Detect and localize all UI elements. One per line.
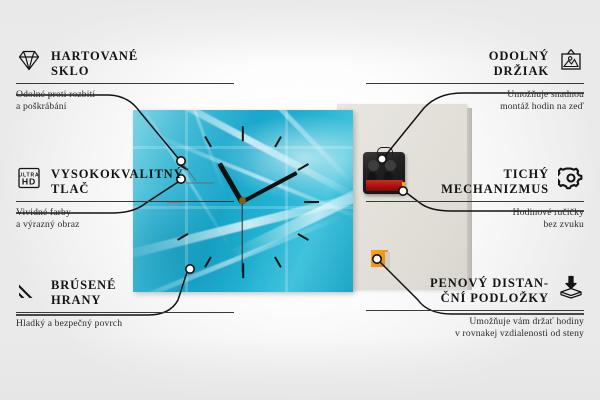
feature-title-text: HARTOVANÉ SKLO [51, 48, 138, 78]
feature-hartovane-sklo[interactable]: HARTOVANÉ SKLO Odolné proti rozbití a po… [16, 48, 234, 114]
divider [16, 312, 234, 313]
feature-title: HARTOVANÉ SKLO [16, 48, 234, 78]
feature-tichy-mechanizmus[interactable]: TICHÝ MECHANIZMUS Hodinové ručičky bez z… [366, 166, 584, 232]
hour-tick [304, 201, 319, 203]
feature-description: Umožňuje snadnou montáž hodin na zeď [366, 89, 584, 114]
feature-description: Umožňuje vám držať hodiny v rovnakej vzd… [366, 316, 584, 341]
feature-title: BRÚSENÉ HRANY [16, 277, 234, 307]
gear-icon [558, 166, 584, 190]
feature-title-text: PENOVÝ DISTAN- ČNÍ PODLOŽKY [430, 275, 549, 305]
ultra-hd-icon: ultra HD [16, 166, 42, 190]
feature-vysokokvalitny-tlac[interactable]: ultra HD VYSOKOKVALITNÝ TLAČ Vividné far… [16, 166, 234, 232]
polished-edges-icon [16, 277, 42, 301]
feature-title: PENOVÝ DISTAN- ČNÍ PODLOŽKY [366, 275, 584, 305]
divider [366, 310, 584, 311]
diamond-icon [16, 48, 42, 72]
feature-penove-podlozky[interactable]: PENOVÝ DISTAN- ČNÍ PODLOŽKY Umožňuje vám… [366, 275, 584, 341]
infographic-canvas: HARTOVANÉ SKLO Odolné proti rozbití a po… [0, 0, 600, 400]
divider [366, 201, 584, 202]
divider [366, 83, 584, 84]
feature-odolny-drziak[interactable]: ODOLNÝ DRŽIAK Umožňuje snadnou montáž ho… [366, 48, 584, 114]
divider [16, 83, 234, 84]
second-hand [241, 201, 242, 271]
clock-center-pin [239, 197, 246, 204]
feature-title-text: ODOLNÝ DRŽIAK [489, 48, 549, 78]
svg-text:HD: HD [22, 177, 36, 187]
foam-spacer-icon [558, 275, 584, 299]
picture-hanger-icon [558, 48, 584, 72]
feature-title: ultra HD VYSOKOKVALITNÝ TLAČ [16, 166, 234, 196]
feature-description: Vividné farby a výrazný obraz [16, 207, 234, 232]
feature-description: Hladký a bezpečný povrch [16, 318, 234, 330]
feature-title: TICHÝ MECHANIZMUS [366, 166, 584, 196]
feature-title-text: BRÚSENÉ HRANY [51, 277, 116, 307]
hour-tick [242, 126, 244, 141]
feature-title-text: TICHÝ MECHANIZMUS [441, 166, 549, 196]
feature-description: Odolné proti rozbití a poškrábání [16, 89, 234, 114]
feature-brusene-hrany[interactable]: BRÚSENÉ HRANY Hladký a bezpečný povrch [16, 277, 234, 330]
divider [16, 201, 234, 202]
feature-title-text: VYSOKOKVALITNÝ TLAČ [51, 166, 184, 196]
feature-description: Hodinové ručičky bez zvuku [366, 207, 584, 232]
foam-spacer-pad [371, 250, 388, 267]
feature-title: ODOLNÝ DRŽIAK [366, 48, 584, 78]
hanger-hook-icon [377, 147, 393, 155]
